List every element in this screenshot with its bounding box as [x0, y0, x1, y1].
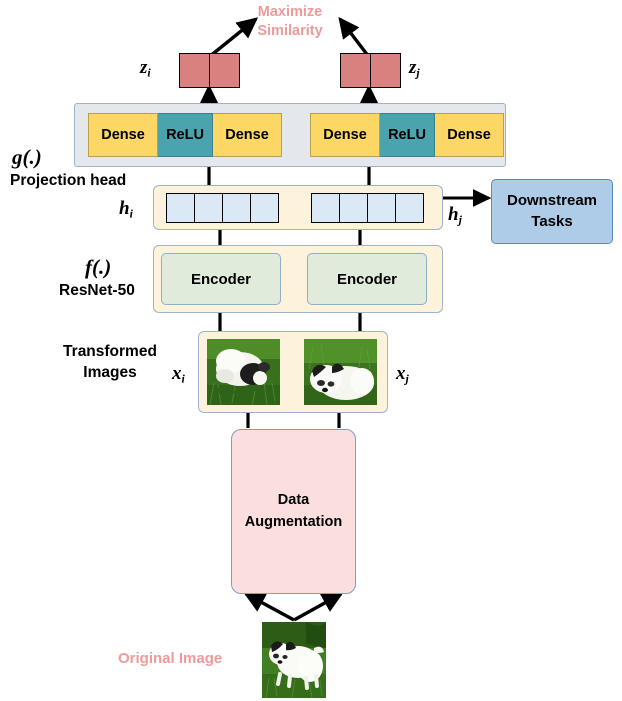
x-j-symbol: x	[396, 363, 406, 384]
dense-block[interactable]: Dense	[88, 113, 158, 157]
z-i-vector	[179, 53, 240, 88]
data-augmentation-line1: Data	[278, 490, 309, 511]
relu-block[interactable]: ReLU	[380, 113, 435, 157]
h-i-symbol: h	[119, 198, 130, 219]
x-j-subscript: j	[406, 373, 409, 386]
encoder-right-box[interactable]: Encoder	[307, 253, 427, 305]
g-function-label: g(.)	[12, 145, 42, 170]
downstream-tasks-box[interactable]: Downstream Tasks	[491, 179, 613, 244]
z-j-cell	[340, 53, 371, 88]
downstream-tasks-line2: Tasks	[531, 212, 572, 232]
encoder-left-box[interactable]: Encoder	[161, 253, 281, 305]
h-j-symbol: h	[448, 204, 459, 225]
h-j-cell	[340, 193, 368, 223]
x-i-symbol: x	[172, 363, 182, 384]
h-i-cell	[223, 193, 251, 223]
f-function-label: f(.)	[85, 255, 111, 280]
h-i-cell	[251, 193, 279, 223]
original-image-label: Original Image	[118, 650, 222, 667]
projection-head-label: Projection head	[10, 172, 126, 189]
data-augmentation-line2: Augmentation	[245, 512, 342, 533]
h-i-cell	[166, 193, 195, 223]
h-j-label: hj	[448, 204, 462, 228]
maximize-similarity-label: Maximize Similarity	[236, 2, 344, 42]
z-j-subscript: j	[416, 67, 419, 80]
projection-head-right-blocks: Dense ReLU Dense	[310, 113, 504, 157]
h-i-cell	[195, 193, 223, 223]
h-j-vector	[311, 193, 424, 223]
maximize-similarity-line2: Similarity	[257, 22, 322, 41]
x-j-label: xj	[396, 363, 409, 387]
dense-block[interactable]: Dense	[213, 113, 282, 157]
z-i-label: zi	[140, 57, 151, 81]
transformed-images-line1: Transformed	[63, 342, 157, 363]
h-i-label: hi	[119, 198, 133, 222]
relu-block[interactable]: ReLU	[158, 113, 213, 157]
transformed-images-label: Transformed Images	[42, 341, 178, 385]
h-j-cell	[396, 193, 424, 223]
z-i-cell	[179, 53, 210, 88]
h-j-cell	[368, 193, 396, 223]
arrow-original-to-aug-right	[294, 594, 341, 620]
h-i-subscript: i	[130, 208, 133, 221]
arrow-zj-to-similarity	[340, 19, 369, 57]
transformed-image-xi	[207, 339, 280, 405]
arrow-original-to-aug-left	[246, 594, 294, 620]
z-i-subscript: i	[147, 67, 150, 80]
transformed-images-line2: Images	[83, 363, 136, 384]
h-j-subscript: j	[459, 214, 462, 227]
z-j-vector	[340, 53, 401, 88]
z-i-cell	[210, 53, 240, 88]
downstream-tasks-line1: Downstream	[507, 191, 597, 211]
dense-block[interactable]: Dense	[310, 113, 380, 157]
z-j-cell	[371, 53, 401, 88]
x-i-label: xi	[172, 363, 185, 387]
original-image	[262, 622, 326, 698]
h-i-vector	[166, 193, 279, 223]
transformed-image-xj	[304, 339, 377, 405]
h-j-cell	[311, 193, 340, 223]
maximize-similarity-line1: Maximize	[258, 3, 322, 22]
projection-head-left-blocks: Dense ReLU Dense	[88, 113, 282, 157]
resnet-label: ResNet-50	[59, 282, 135, 299]
data-augmentation-box[interactable]: Data Augmentation	[231, 429, 356, 594]
z-j-label: zj	[409, 57, 420, 81]
dense-block[interactable]: Dense	[435, 113, 504, 157]
x-i-subscript: i	[182, 373, 185, 386]
